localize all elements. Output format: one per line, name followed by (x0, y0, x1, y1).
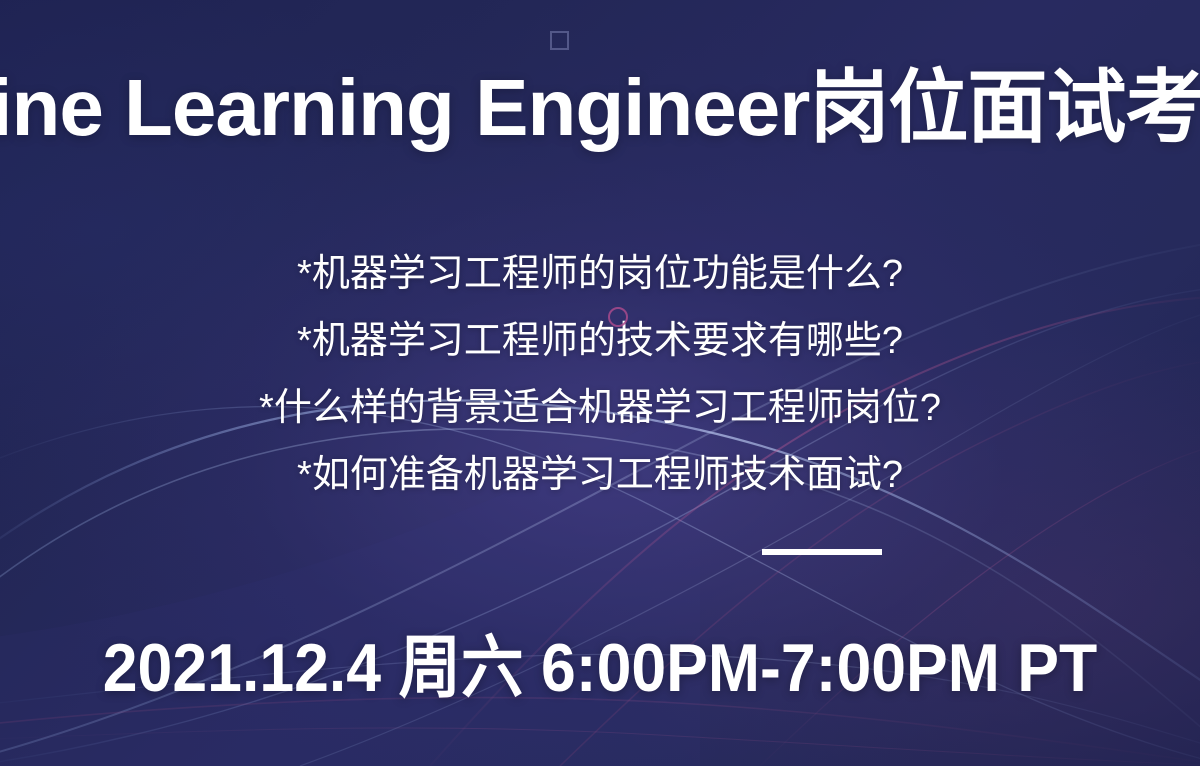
bullet-item-4: *如何准备机器学习工程师技术面试? (0, 456, 1200, 494)
divider-rule (762, 549, 882, 555)
event-datetime: 2021.12.4 周六 6:00PM-7:00PM PT (48, 612, 1152, 711)
bullet-item-1: *机器学习工程师的岗位功能是什么? (0, 255, 1200, 293)
page-title: Machine Learning Engineer岗位面试考什么? (0, 68, 1200, 148)
circle-outline-icon (608, 307, 628, 327)
square-outline-icon (550, 31, 569, 50)
bullet-list: *机器学习工程师的岗位功能是什么? *机器学习工程师的技术要求有哪些? *什么样… (0, 255, 1200, 494)
bullet-item-2: *机器学习工程师的技术要求有哪些? (0, 322, 1200, 360)
webinar-poster: Machine Learning Engineer岗位面试考什么? *机器学习工… (0, 0, 1200, 766)
bullet-item-3: *什么样的背景适合机器学习工程师岗位? (0, 389, 1200, 427)
